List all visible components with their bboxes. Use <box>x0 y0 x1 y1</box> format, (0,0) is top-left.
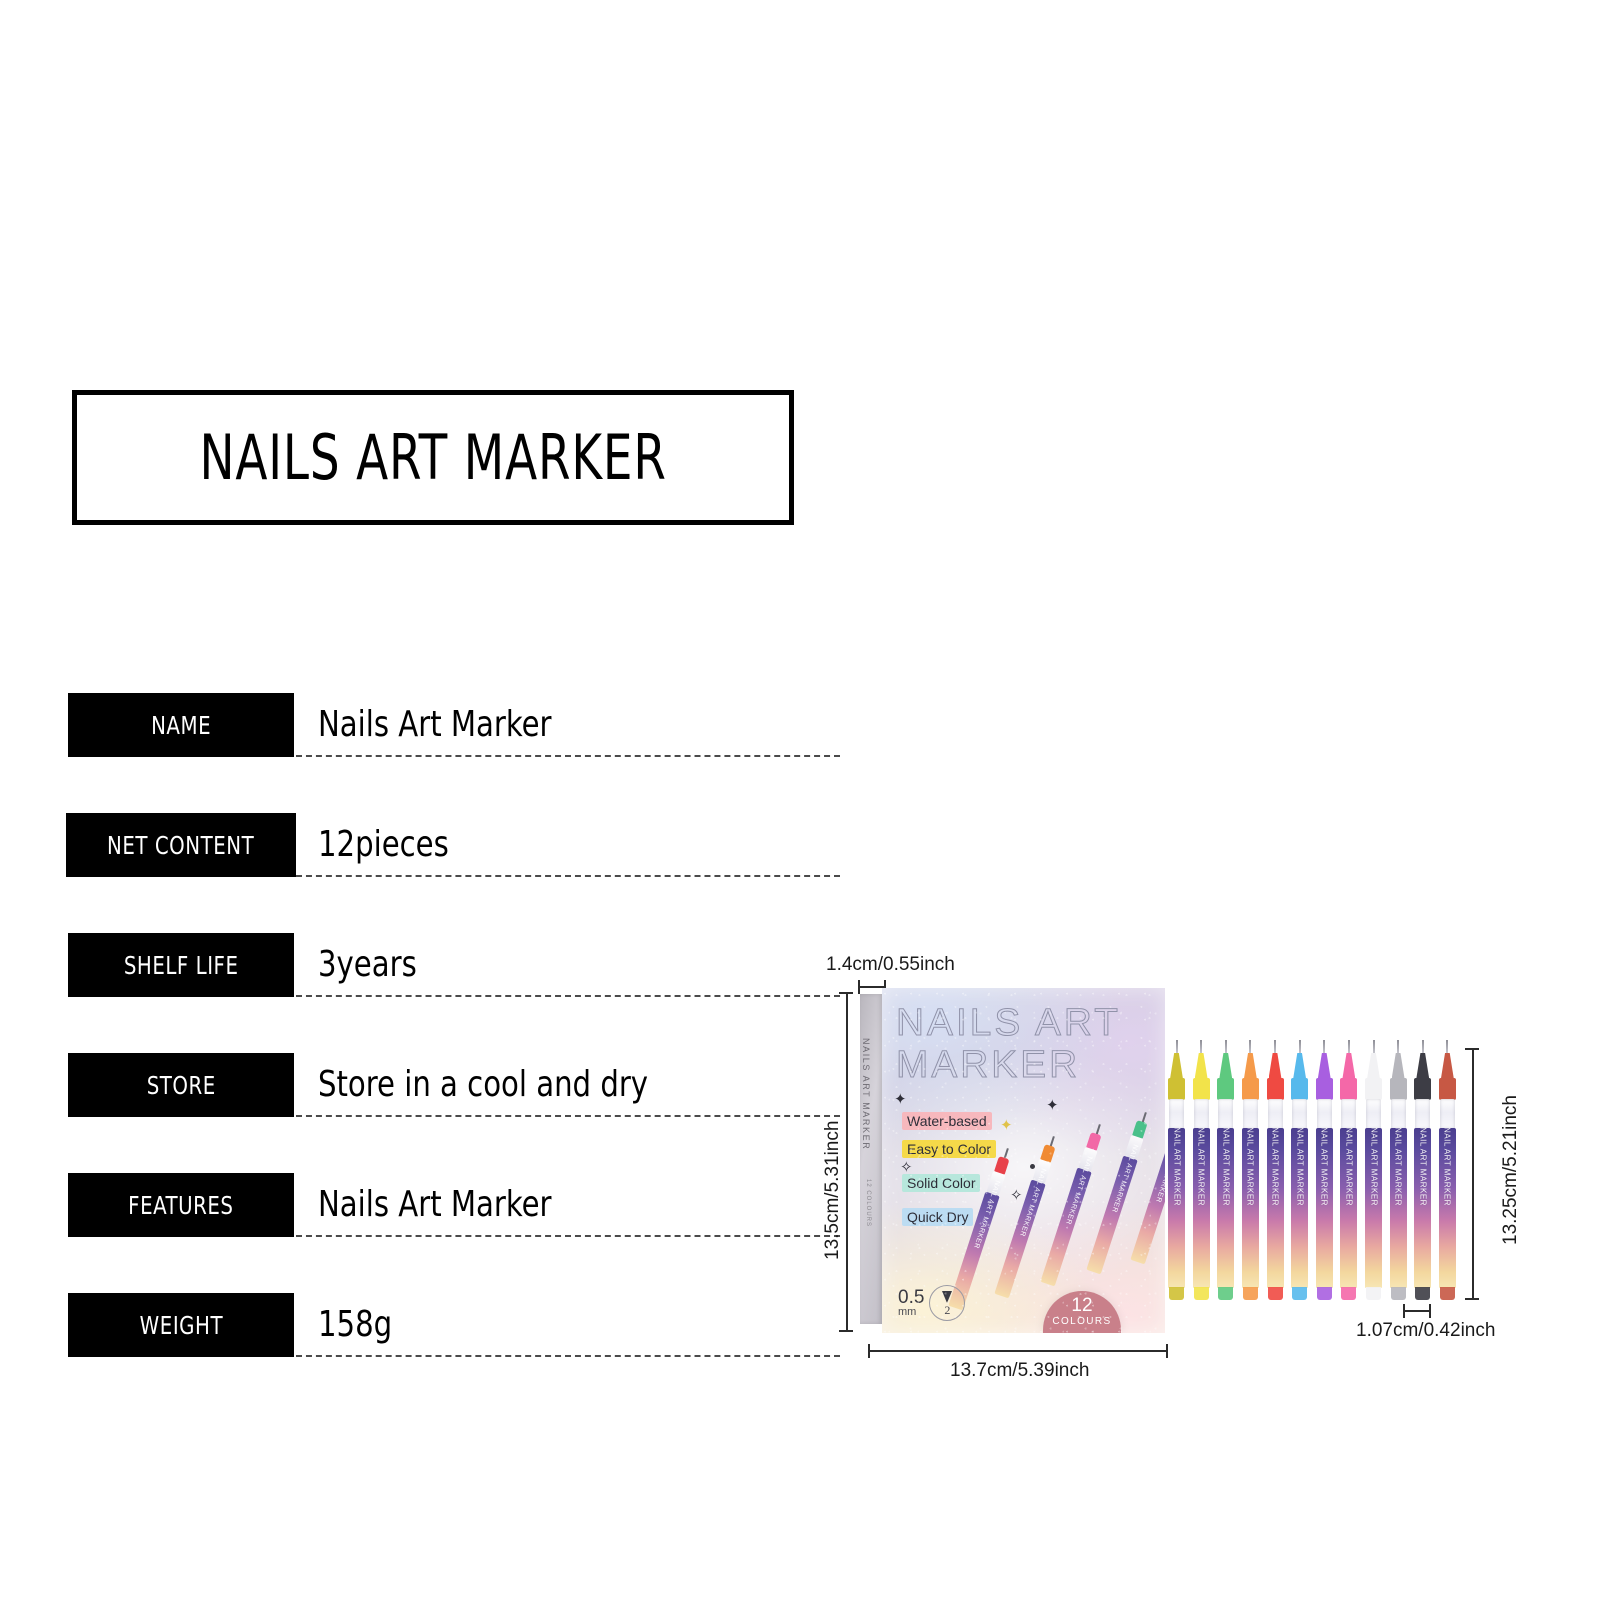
pen-window <box>1169 1099 1184 1129</box>
pen-nib <box>1323 1040 1325 1054</box>
pen-cone <box>1318 1053 1331 1079</box>
pen-cone <box>1416 1053 1429 1079</box>
tip-size-number: 0.5 <box>898 1289 924 1306</box>
sparkle-icon: ✧ <box>900 1160 913 1175</box>
spec-value-name: Nails Art Marker <box>318 699 552 751</box>
dim-pen-width-label: 1.07cm/0.42inch <box>1356 1320 1495 1342</box>
pen-nib-tail: 2 <box>944 1303 950 1318</box>
spec-label-weight: WEIGHT <box>68 1293 294 1357</box>
box-art-pen-label: NAIL ART MARKER <box>1154 1133 1165 1203</box>
spec-row-store: STORE Store in a cool and dry <box>68 1053 778 1173</box>
colours-count-badge: 12 COLOURS <box>1043 1291 1121 1333</box>
pen-endcap <box>1243 1287 1258 1300</box>
pen-silver: NAIL ART MARKER <box>1390 1040 1407 1305</box>
spec-label-net-content: NET CONTENT <box>66 813 296 877</box>
pen-window <box>1268 1099 1283 1129</box>
spec-dash-weight <box>296 1355 840 1357</box>
pen-barrel: NAIL ART MARKER <box>1168 1128 1185 1288</box>
pen-nib <box>1225 1040 1227 1054</box>
dim-pen-width-line <box>1403 1310 1431 1312</box>
box-feature-1: Water-based <box>902 1112 992 1130</box>
pen-cone <box>1293 1053 1306 1079</box>
spec-dash-net-content <box>296 875 840 877</box>
pen-barrel-label: NAIL ART MARKER <box>1443 1127 1452 1206</box>
spec-value-net-content: 12pieces <box>318 819 449 871</box>
pen-ferrule <box>1316 1078 1333 1100</box>
page-title-banner: NAILS ART MARKER <box>72 390 794 525</box>
pen-ferrule <box>1168 1078 1185 1100</box>
pen-ferrule <box>1267 1078 1284 1100</box>
box-title-line-1: NAILS ART <box>896 1002 1121 1045</box>
pen-barrel: NAIL ART MARKER <box>1217 1128 1234 1288</box>
pen-barrel-label: NAIL ART MARKER <box>1246 1127 1255 1206</box>
dim-box-width-cap-left <box>868 1344 870 1358</box>
pen-lineup: NAIL ART MARKER NAIL ART MARKER NAIL ART… <box>1168 1040 1456 1305</box>
pen-barrel-label: NAIL ART MARKER <box>1369 1127 1378 1206</box>
pen-green: NAIL ART MARKER <box>1217 1040 1234 1305</box>
dim-box-height-line <box>846 992 848 1330</box>
pen-window <box>1366 1099 1381 1129</box>
pen-yellow: NAIL ART MARKER <box>1193 1040 1210 1305</box>
dim-box-height-label: 13.5cm/5.31inch <box>822 1121 844 1260</box>
dim-pen-length-line <box>1472 1048 1474 1298</box>
box-feature-4: Quick Dry <box>902 1208 973 1226</box>
pen-nib <box>1176 1040 1178 1054</box>
tip-size-badge: 0.5 mm 2 <box>898 1285 965 1321</box>
sparkle-icon: ✦ <box>1046 1098 1059 1113</box>
spec-row-net-content: NET CONTENT 12pieces <box>68 813 778 933</box>
pen-ferrule <box>1340 1078 1357 1100</box>
pen-barrel-label: NAIL ART MARKER <box>1221 1127 1230 1206</box>
dim-box-width-cap-right <box>1166 1344 1168 1358</box>
pen-nib <box>1249 1040 1251 1054</box>
dim-pen-length-label: 13.25cm/5.21inch <box>1500 1095 1522 1245</box>
dim-box-height-cap-bottom <box>839 1330 853 1332</box>
pen-barrel-label: NAIL ART MARKER <box>1172 1127 1181 1206</box>
pen-endcap <box>1194 1287 1209 1300</box>
pen-barrel-label: NAIL ART MARKER <box>1271 1127 1280 1206</box>
pen-nib <box>1348 1040 1350 1054</box>
pen-barrel: NAIL ART MARKER <box>1365 1128 1382 1288</box>
pen-barrel: NAIL ART MARKER <box>1414 1128 1431 1288</box>
pen-window <box>1218 1099 1233 1129</box>
pen-ferrule <box>1193 1078 1210 1100</box>
product-photo-area: 1.4cm/0.55inch 13.5cm/5.31inch 13.7cm/5.… <box>800 940 1600 1410</box>
spec-label-name: NAME <box>68 693 294 757</box>
pen-pink: NAIL ART MARKER <box>1340 1040 1357 1305</box>
pen-cone <box>1342 1053 1355 1079</box>
spec-label-features: FEATURES <box>68 1173 294 1237</box>
pen-barrel: NAIL ART MARKER <box>1291 1128 1308 1288</box>
pen-tip-icon: 2 <box>929 1285 965 1321</box>
pen-gold: NAIL ART MARKER <box>1168 1040 1185 1305</box>
spec-dash-store <box>296 1115 840 1117</box>
pen-endcap <box>1366 1287 1381 1300</box>
colours-count-label: COLOURS <box>1043 1316 1121 1327</box>
pen-nib <box>1200 1040 1202 1054</box>
box-art-pen-body: NAIL ART MARKER <box>1086 1156 1137 1275</box>
box-spine-subtitle: 12 COLOURS <box>865 1179 871 1227</box>
dim-box-width-line <box>868 1350 1168 1352</box>
pen-rust: NAIL ART MARKER <box>1439 1040 1456 1305</box>
pen-ferrule <box>1291 1078 1308 1100</box>
dim-pen-width-cap-left <box>1403 1304 1405 1318</box>
spec-value-store: Store in a cool and dry <box>318 1059 648 1111</box>
dim-pen-width-cap-right <box>1429 1304 1431 1318</box>
pen-barrel-label: NAIL ART MARKER <box>1197 1127 1206 1206</box>
pen-blue: NAIL ART MARKER <box>1291 1040 1308 1305</box>
pen-nib <box>1446 1040 1448 1054</box>
spec-label-store: STORE <box>68 1053 294 1117</box>
box-spine: NAILS ART MARKER 12 COLOURS <box>860 994 882 1324</box>
pen-ferrule <box>1390 1078 1407 1100</box>
pen-window <box>1317 1099 1332 1129</box>
pen-black: NAIL ART MARKER <box>1414 1040 1431 1305</box>
pen-endcap <box>1292 1287 1307 1300</box>
pen-cone <box>1441 1053 1454 1079</box>
spec-dash-name <box>296 755 840 757</box>
pen-endcap <box>1218 1287 1233 1300</box>
dot-decoration <box>1030 1164 1035 1169</box>
pen-endcap <box>1415 1287 1430 1300</box>
pen-cone <box>1269 1053 1282 1079</box>
dim-pen-length-cap-bottom <box>1465 1298 1479 1300</box>
pen-window <box>1415 1099 1430 1129</box>
pen-orange: NAIL ART MARKER <box>1242 1040 1259 1305</box>
pen-nib <box>1422 1040 1424 1054</box>
pen-endcap <box>1341 1287 1356 1300</box>
colours-count-number: 12 <box>1043 1291 1121 1316</box>
pen-ferrule <box>1414 1078 1431 1100</box>
spec-label-shelf-life: SHELF LIFE <box>68 933 294 997</box>
pen-barrel-label: NAIL ART MARKER <box>1320 1127 1329 1206</box>
pen-cone <box>1392 1053 1405 1079</box>
pen-window <box>1440 1099 1455 1129</box>
pen-window <box>1194 1099 1209 1129</box>
pen-endcap <box>1169 1287 1184 1300</box>
pen-endcap <box>1268 1287 1283 1300</box>
spec-row-shelf-life: SHELF LIFE 3years <box>68 933 778 1053</box>
pen-barrel: NAIL ART MARKER <box>1242 1128 1259 1288</box>
pen-barrel-label: NAIL ART MARKER <box>1344 1127 1353 1206</box>
pen-nib <box>1397 1040 1399 1054</box>
box-art-pen-body: NAIL ART MARKER <box>1040 1168 1091 1287</box>
pen-ferrule <box>1242 1078 1259 1100</box>
pen-window <box>1292 1099 1307 1129</box>
spec-dash-shelf-life <box>296 995 840 997</box>
pen-white: NAIL ART MARKER <box>1365 1040 1382 1305</box>
spec-dash-features <box>296 1235 840 1237</box>
pen-endcap <box>1391 1287 1406 1300</box>
spec-row-features: FEATURES Nails Art Marker <box>68 1173 778 1293</box>
spec-value-weight: 158g <box>318 1299 392 1351</box>
spec-value-features: Nails Art Marker <box>318 1179 552 1231</box>
pen-purple: NAIL ART MARKER <box>1316 1040 1333 1305</box>
pen-cone <box>1170 1053 1183 1079</box>
pen-barrel-label: NAIL ART MARKER <box>1418 1127 1427 1206</box>
pen-ferrule <box>1217 1078 1234 1100</box>
pen-nib <box>1299 1040 1301 1054</box>
spec-row-weight: WEIGHT 158g <box>68 1293 778 1413</box>
pen-barrel: NAIL ART MARKER <box>1267 1128 1284 1288</box>
pen-window <box>1341 1099 1356 1129</box>
pen-nib <box>1373 1040 1375 1054</box>
sparkle-icon: ✦ <box>1000 1118 1013 1133</box>
pen-barrel: NAIL ART MARKER <box>1193 1128 1210 1288</box>
box-title-line-2: MARKER <box>896 1044 1080 1087</box>
spec-row-name: NAME Nails Art Marker <box>68 693 778 813</box>
pen-nib-shape <box>942 1291 952 1303</box>
box-front-face: NAILS ART MARKER NAIL ART MARKER NAIL AR… <box>882 988 1165 1333</box>
pen-barrel-label: NAIL ART MARKER <box>1394 1127 1403 1206</box>
box-feature-3: Solid Color <box>902 1174 980 1192</box>
pen-ferrule <box>1439 1078 1456 1100</box>
dim-box-depth-label: 1.4cm/0.55inch <box>826 954 955 976</box>
pen-window <box>1243 1099 1258 1129</box>
pen-ferrule <box>1365 1078 1382 1100</box>
pen-barrel: NAIL ART MARKER <box>1390 1128 1407 1288</box>
box-spine-title: NAILS ART MARKER <box>861 1038 871 1150</box>
box-feature-2: Easy to Color <box>902 1140 996 1158</box>
pen-red: NAIL ART MARKER <box>1267 1040 1284 1305</box>
pen-cone <box>1219 1053 1232 1079</box>
dim-pen-length-cap-top <box>1465 1048 1479 1050</box>
pen-barrel: NAIL ART MARKER <box>1439 1128 1456 1288</box>
pen-barrel-label: NAIL ART MARKER <box>1295 1127 1304 1206</box>
dim-box-height-cap-top <box>839 992 853 994</box>
pen-cone <box>1367 1053 1380 1079</box>
spec-table: NAME Nails Art Marker NET CONTENT 12piec… <box>68 693 778 1413</box>
pen-barrel: NAIL ART MARKER <box>1316 1128 1333 1288</box>
dim-box-width-label: 13.7cm/5.39inch <box>950 1360 1089 1382</box>
sparkle-icon: ✧ <box>1010 1188 1023 1203</box>
pen-endcap <box>1317 1287 1332 1300</box>
pen-barrel: NAIL ART MARKER <box>1340 1128 1357 1288</box>
spec-value-shelf-life: 3years <box>318 939 417 991</box>
product-box: NAILS ART MARKER 12 COLOURS NAILS ART MA… <box>860 988 1165 1333</box>
sparkle-icon: ✦ <box>894 1092 907 1107</box>
pen-nib <box>1274 1040 1276 1054</box>
pen-cone <box>1244 1053 1257 1079</box>
pen-window <box>1391 1099 1406 1129</box>
pen-endcap <box>1440 1287 1455 1300</box>
pen-cone <box>1195 1053 1208 1079</box>
page-title: NAILS ART MARKER <box>199 421 666 494</box>
